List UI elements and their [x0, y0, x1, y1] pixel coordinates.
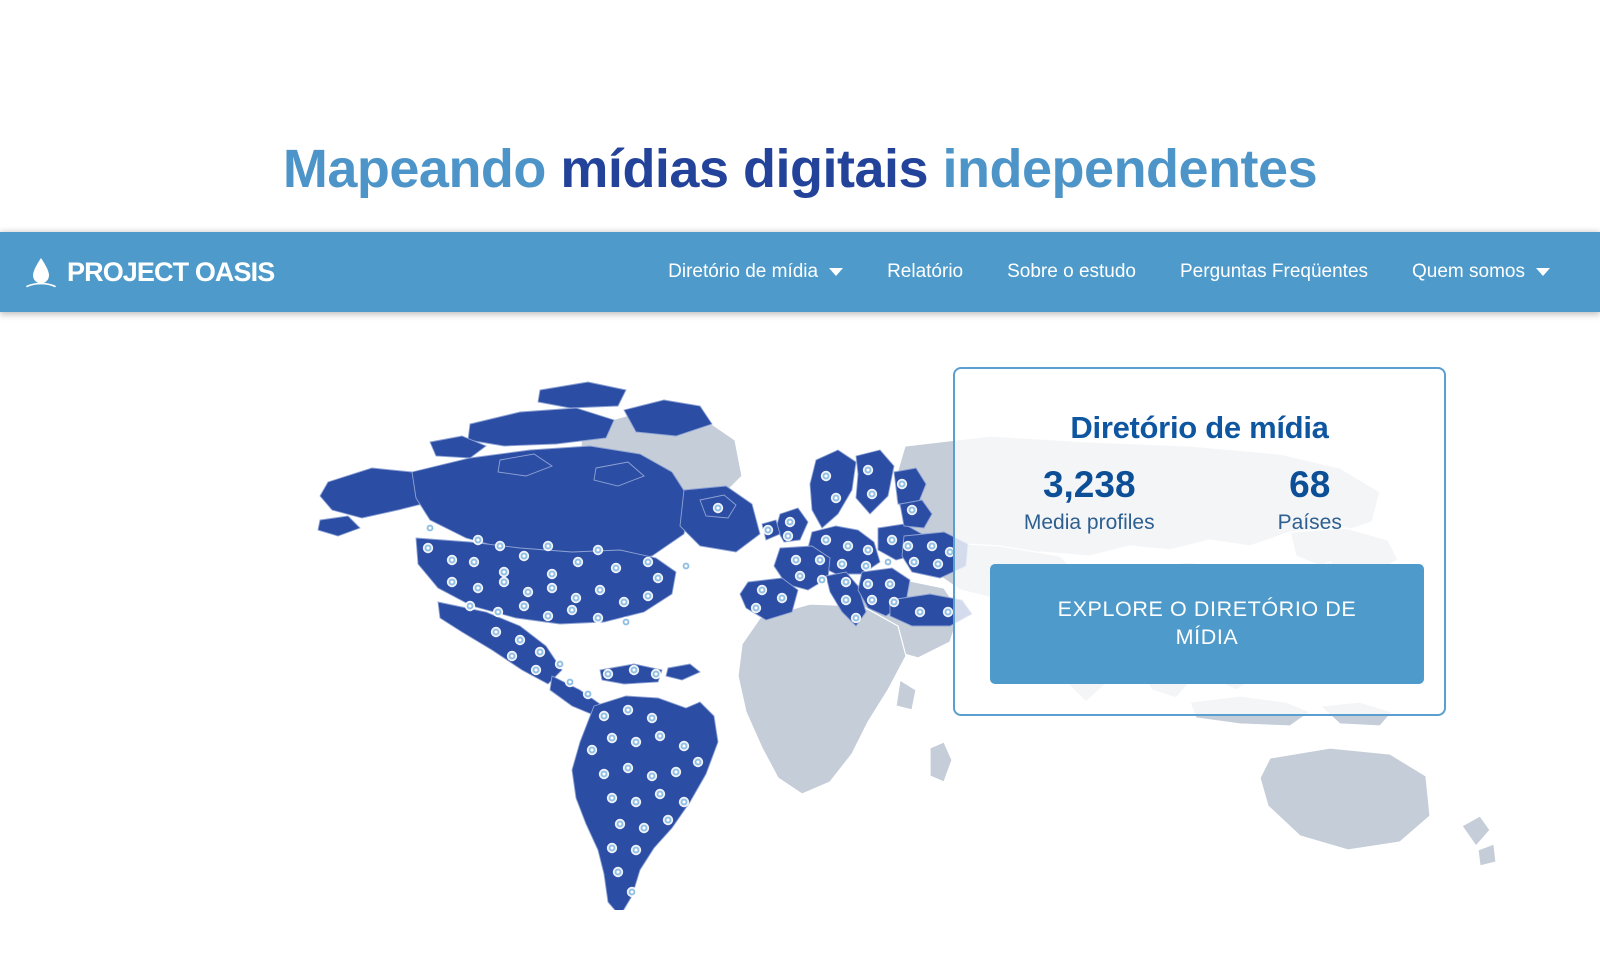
brand-name: PROJECT OASIS	[67, 257, 274, 288]
stat-label: Países	[1200, 511, 1421, 535]
card-stats: 3,238 Media profiles 68 Países	[955, 464, 1444, 535]
nav-item-relatorio[interactable]: Relatório	[865, 253, 985, 291]
page-title: Mapeando mídias digitais independentes	[0, 138, 1600, 200]
chevron-down-icon	[829, 268, 843, 276]
chevron-down-icon	[1536, 268, 1550, 276]
water-droplet-icon	[24, 254, 58, 290]
nav-item-sobre-o-estudo[interactable]: Sobre o estudo	[985, 253, 1158, 291]
headline-part-1: Mapeando	[283, 139, 546, 199]
nav-item-label: Relatório	[887, 261, 963, 283]
stat-value: 3,238	[979, 464, 1200, 507]
nav-item-label: Quem somos	[1412, 261, 1525, 283]
nav-item-quem-somos[interactable]: Quem somos	[1390, 253, 1572, 291]
stat-label: Media profiles	[979, 511, 1200, 535]
explore-directory-button[interactable]: EXPLORE O DIRETÓRIO DE MÍDIA	[990, 564, 1424, 684]
nav-links: Diretório de mídia Relatório Sobre o est…	[646, 253, 1600, 291]
nav-item-perguntas-frequentes[interactable]: Perguntas Freqüentes	[1158, 253, 1390, 291]
media-directory-card: Diretório de mídia 3,238 Media profiles …	[953, 367, 1446, 716]
nav-item-diretorio-de-midia[interactable]: Diretório de mídia	[646, 253, 865, 291]
stat-media-profiles: 3,238 Media profiles	[979, 464, 1200, 535]
headline-part-3: independentes	[943, 139, 1318, 199]
stat-countries: 68 Países	[1200, 464, 1421, 535]
nav-item-label: Perguntas Freqüentes	[1180, 261, 1368, 283]
stat-value: 68	[1200, 464, 1421, 507]
nav-item-label: Sobre o estudo	[1007, 261, 1136, 283]
headline-part-2: mídias digitais	[560, 139, 928, 199]
main-navbar: PROJECT OASIS Diretório de mídia Relatór…	[0, 232, 1600, 312]
page-root: Mapeando mídias digitais independentes P…	[0, 0, 1600, 960]
card-title: Diretório de mídia	[955, 410, 1444, 446]
nav-item-label: Diretório de mídia	[668, 261, 818, 283]
brand-logo[interactable]: PROJECT OASIS	[24, 254, 274, 290]
